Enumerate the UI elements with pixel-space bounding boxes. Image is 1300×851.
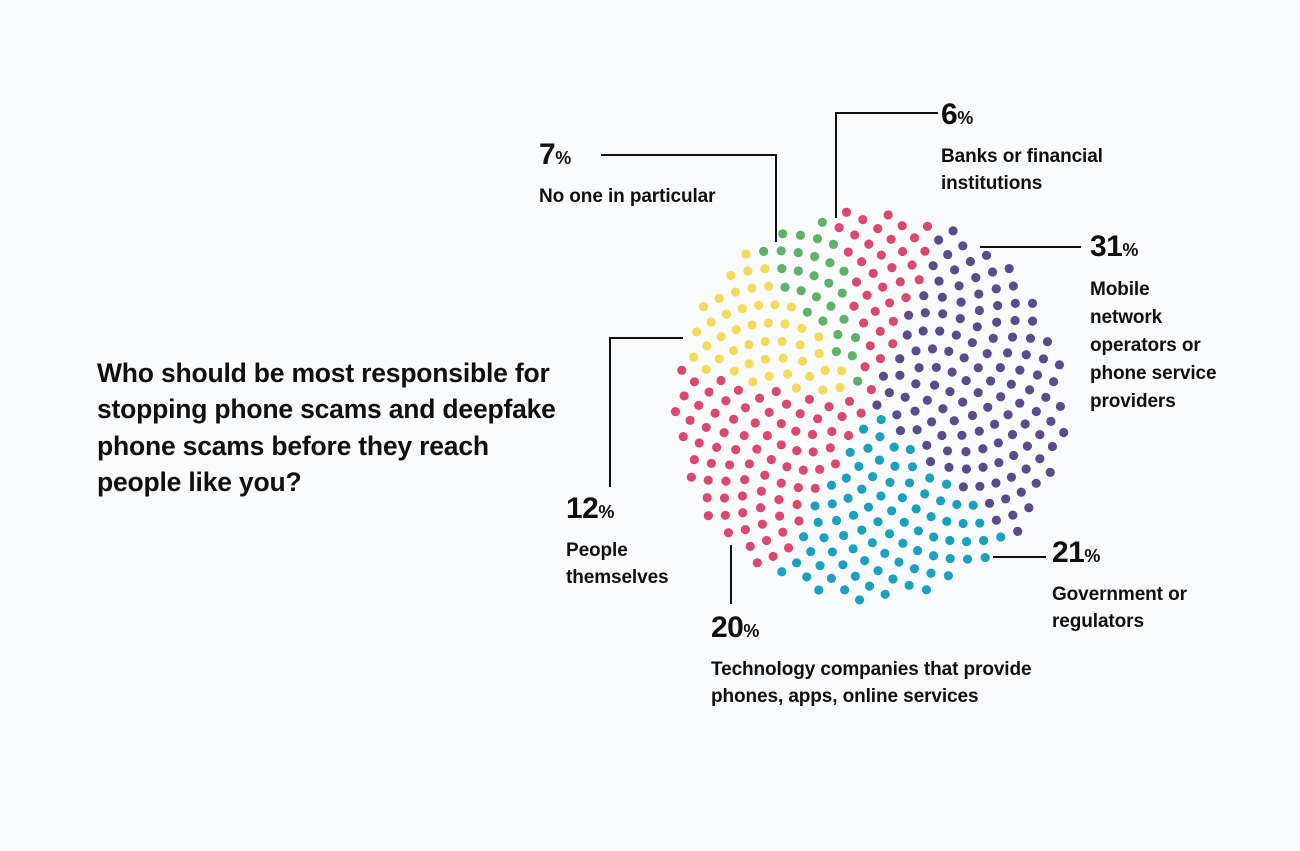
chart-dot-mobile [935,326,944,335]
callout-government: 21% Government or regulators [1052,538,1252,636]
chart-dot-noone [759,247,768,256]
chart-dot-people [798,357,807,366]
chart-dot-noone [777,246,786,255]
chart-dot-mobile [971,273,980,282]
chart-dot-people [743,266,752,275]
chart-dot-technology [826,443,835,452]
chart-dot-technology [767,455,776,464]
chart-dot-banks [898,221,907,230]
chart-dot-mobile [934,276,943,285]
callout-noone: 7% No one in particular [539,140,719,211]
chart-dot-people [764,282,773,291]
chart-dot-technology [711,409,720,418]
chart-dot-technology [741,525,750,534]
chart-dot-people [792,383,801,392]
chart-dot-noone [803,308,812,317]
chart-dot-mobile [944,347,953,356]
callout-banks-label: Banks or financial institutions [941,144,1191,198]
chart-dot-people [747,320,756,329]
callout-technology-percent-value: 20 [711,611,743,644]
chart-dot-government [792,558,801,567]
chart-dot-mobile [1059,428,1068,437]
chart-dot-government [885,478,894,487]
chart-dot-technology [734,386,743,395]
callout-technology-percent: 20% [711,613,1041,643]
callout-mobile-percent: 31% [1090,232,1220,262]
chart-dot-mobile [973,322,982,331]
chart-dot-mobile [932,363,941,372]
percent-sign: % [1084,546,1100,566]
chart-dot-technology [763,431,772,440]
chart-dot-technology [746,542,755,551]
chart-dot-noone [796,231,805,240]
chart-dot-mobile [962,376,971,385]
chart-dot-mobile [988,267,997,276]
chart-dot-mobile [1010,316,1019,325]
chart-dot-people [780,319,789,328]
chart-dot-government [905,581,914,590]
chart-dot-government [851,572,860,581]
chart-dot-people [745,359,754,368]
chart-dot-noone [853,377,862,386]
chart-dot-government [814,518,823,527]
chart-dot-mobile [928,344,937,353]
chart-dot-mobile [958,241,967,250]
chart-dot-government [843,494,852,503]
chart-dot-noone [826,302,835,311]
chart-dot-mobile [958,397,967,406]
chart-dot-mobile [1041,393,1050,402]
chart-dot-technology [729,415,738,424]
chart-dot-government [885,529,894,538]
chart-dot-mobile [927,417,936,426]
chart-dot-technology [772,387,781,396]
chart-dot-technology [702,423,711,432]
chart-dot-mobile [892,410,901,419]
callout-noone-percent: 7% [539,140,719,170]
chart-dot-mobile [1013,527,1022,536]
chart-dot-mobile [895,354,904,363]
chart-dot-government [799,532,808,541]
callout-noone-percent-value: 7 [539,138,555,171]
chart-dot-mobile [1035,430,1044,439]
chart-dot-mobile [1007,380,1016,389]
chart-dot-government [873,566,882,575]
chart-dot-technology [824,402,833,411]
percent-sign: % [1122,240,1138,260]
percent-sign: % [743,621,759,641]
chart-dot-people [689,353,698,362]
chart-dot-technology [752,445,761,454]
chart-dot-mobile [996,363,1005,372]
chart-dot-people [715,354,724,363]
chart-dot-banks [876,354,885,363]
chart-dot-technology [782,462,791,471]
chart-dot-mobile [992,516,1001,525]
chart-dot-mobile [1032,479,1041,488]
chart-dot-mobile [885,388,894,397]
chart-dot-banks_wrap [862,291,871,300]
chart-dot-mobile [1001,494,1010,503]
chart-dot-government [875,455,884,464]
chart-dot-technology [720,428,729,437]
callout-mobile: 31% Mobile network operators or phone se… [1090,232,1220,417]
chart-dot-people [726,271,735,280]
callout-noone-label: No one in particular [539,184,719,211]
chart-dot-mobile [968,338,977,347]
chart-dot-technology [777,419,786,428]
chart-dot-people [754,301,763,310]
chart-dot-government [908,462,917,471]
chart-dot-people [702,341,711,350]
chart-dot-technology [794,516,803,525]
chart-dot-technology [827,427,836,436]
chart-dot-mobile [983,403,992,412]
chart-dot-government [942,517,951,526]
chart-dot-banks [877,250,886,259]
chart-dot-government [839,531,848,540]
chart-dot-mobile [1005,264,1014,273]
chart-dot-technology [694,401,703,410]
chart-dot-technology [815,465,824,474]
chart-dot-technology [808,430,817,439]
chart-dot-mobile [945,387,954,396]
chart-dot-mobile [994,458,1003,467]
chart-dot-technology [671,407,680,416]
chart-dot-government [975,518,984,527]
chart-dot-technology [704,387,713,396]
chart-dot-mobile [1046,468,1055,477]
chart-dot-mobile [1022,464,1031,473]
chart-dot-banks_wrap [858,215,867,224]
chart-dot-mobile [1048,442,1057,451]
chart-dot-noone [780,283,789,292]
chart-dot-technology [690,377,699,386]
chart-dot-technology [784,543,793,552]
chart-dot-technology [740,475,749,484]
chart-dot-people [722,310,731,319]
chart-dot-mobile [930,381,939,390]
chart-dot-technology [792,500,801,509]
chart-dot-banks_wrap [844,247,853,256]
chart-dot-technology [731,445,740,454]
chart-dot-mobile [1055,360,1064,369]
chart-dot-technology [716,376,725,385]
chart-dot-government [815,561,824,570]
chart-dot-technology [844,431,853,440]
chart-dot-technology [707,459,716,468]
chart-dot-noone [825,258,834,267]
chart-dot-mobile [895,371,904,380]
chart-dot-mobile [938,404,947,413]
chart-dot-noone [839,267,848,276]
chart-dot-mobile [1008,430,1017,439]
chart-dot-technology [758,520,767,529]
chart-dot-mobile [978,463,987,472]
chart-dot-people [715,294,724,303]
chart-dot-technology [756,503,765,512]
chart-dot-banks [871,307,880,316]
chart-dot-technology [757,487,766,496]
chart-dot-mobile [1015,399,1024,408]
chart-dot-noone [794,266,803,275]
chart-dot-mobile [1026,334,1035,343]
chart-dot-government [979,536,988,545]
chart-dot-mobile [1028,317,1037,326]
chart-dot-people [744,340,753,349]
chart-dot-mobile [919,291,928,300]
chart-dot-mobile [1024,503,1033,512]
chart-dot-people [699,302,708,311]
chart-dot-banks_wrap [860,362,869,371]
chart-dot-mobile [956,298,965,307]
chart-dot-technology [695,438,704,447]
chart-dot-banks_wrap [850,230,859,239]
chart-dot-mobile [962,464,971,473]
chart-dot-government [864,502,873,511]
chart-dot-technology [753,558,762,567]
chart-dot-government [876,491,885,500]
chart-dot-government [873,517,882,526]
chart-dot-banks [867,385,876,394]
chart-dot-mobile [975,482,984,491]
chart-dot-people [805,372,814,381]
chart-dot-mobile [1022,350,1031,359]
chart-dot-government [969,501,978,510]
chart-dot-government [945,536,954,545]
chart-dot-people [692,327,701,336]
chart-dot-technology [777,479,786,488]
chart-dot-technology [745,459,754,468]
chart-dot-people [738,304,747,313]
chart-dot-technology [680,391,689,400]
chart-dot-mobile [959,482,968,491]
chart-dot-people [778,354,787,363]
callout-people: 12% People themselves [566,494,726,592]
percent-sign: % [598,502,614,522]
chart-dot-mobile [923,396,932,405]
callout-government-percent: 21% [1052,538,1252,568]
callout-government-percent-value: 21 [1052,536,1084,569]
chart-dot-government [842,474,851,483]
chart-dot-mobile [944,463,953,472]
chart-dot-banks_wrap [857,257,866,266]
chart-dot-banks [885,298,894,307]
chart-dot-mobile [1003,348,1012,357]
chart-dot-banks [923,222,932,231]
chart-dot-mobile [938,293,947,302]
chart-dot-people [765,372,774,381]
chart-dot-technology [740,431,749,440]
chart-dot-technology [685,416,694,425]
chart-dot-noone [777,264,786,273]
chart-dot-banks_wrap [852,277,861,286]
chart-dot-technology [738,491,747,500]
chart-dot-government [898,539,907,548]
leader-people [610,338,683,487]
chart-dot-people [837,366,846,375]
question-text: Who should be most responsible for stopp… [97,355,567,500]
chart-dot-people [702,365,711,374]
chart-dot-government [922,585,931,594]
chart-dot-people [761,355,770,364]
chart-dot-technology [677,366,686,375]
chart-dot-government [890,442,899,451]
chart-dot-technology [791,427,800,436]
chart-dot-banks_wrap [849,302,858,311]
chart-dot-noone [812,292,821,301]
chart-dot-mobile [1023,442,1032,451]
chart-dot-mobile [1049,377,1058,386]
chart-dot-mobile [921,308,930,317]
chart-dot-noone [824,278,833,287]
chart-dot-mobile [1021,419,1030,428]
chart-dot-people [729,346,738,355]
chart-dot-mobile [1043,337,1052,346]
chart-dot-government [936,496,945,505]
chart-dot-government [920,489,929,498]
chart-dot-noone [818,218,827,227]
chart-dot-technology [809,447,818,456]
chart-dot-mobile [948,367,957,376]
chart-dot-mobile [994,438,1003,447]
chart-dot-government [777,567,786,576]
chart-dot-technology [857,409,866,418]
chart-dot-mobile [914,363,923,372]
chart-dot-banks [896,277,905,286]
chart-dot-mobile [1032,407,1041,416]
chart-dot-people [787,302,796,311]
chart-dot-government [926,569,935,578]
chart-dot-noone [810,252,819,261]
chart-dot-government [827,481,836,490]
chart-dot-banks [869,269,878,278]
chart-dot-noone [794,248,803,257]
chart-dot-government [888,574,897,583]
chart-dot-mobile [896,426,905,435]
chart-dot-government [838,560,847,569]
chart-dot-people [818,385,827,394]
infographic-canvas: Who should be most responsible for stopp… [0,0,1300,851]
callout-government-label: Government or regulators [1052,582,1252,636]
chart-dot-government [929,551,938,560]
chart-dot-government [840,585,849,594]
chart-dot-mobile [926,457,935,466]
chart-dot-technology [845,397,854,406]
chart-dot-government [806,547,815,556]
chart-dot-mobile [950,265,959,274]
chart-dot-people [707,317,716,326]
chart-dot-mobile [1003,410,1012,419]
chart-dot-technology [813,414,822,423]
chart-dot-government [942,480,951,489]
chart-dot-banks [887,263,896,272]
chart-dot-banks [884,210,893,219]
chart-dot-mobile [911,346,920,355]
chart-dot-government [819,533,828,542]
chart-dot-people [741,249,750,258]
chart-dot-government [827,574,836,583]
chart-dot-government [913,546,922,555]
chart-dot-mobile [982,251,991,260]
chart-dot-technology [751,418,760,427]
chart-dot-noone [818,316,827,325]
chart-dot-people [770,300,779,309]
chart-dot-banks [873,224,882,233]
chart-dot-government [914,526,923,535]
chart-dot-technology [725,460,734,469]
chart-dot-noone [832,347,841,356]
chart-dot-noone [839,315,848,324]
chart-dot-government [887,506,896,515]
chart-dot-government [865,582,874,591]
chart-dot-government [855,595,864,604]
chart-dot-people [747,283,756,292]
chart-dot-mobile [919,326,928,335]
chart-dot-mobile [986,376,995,385]
callout-banks-percent: 6% [941,100,1191,130]
callout-people-percent: 12% [566,494,726,524]
chart-dot-government [963,555,972,564]
chart-dot-government [868,538,877,547]
callout-people-percent-value: 12 [566,492,598,525]
chart-dot-people [764,318,773,327]
callout-banks: 6% Banks or financial institutions [941,100,1191,198]
chart-dot-people [795,340,804,349]
chart-dot-people [783,369,792,378]
chart-dot-government [849,511,858,520]
chart-dot-mobile [989,334,998,343]
chart-dot-mobile [985,499,994,508]
chart-dot-technology [794,483,803,492]
chart-dot-technology [769,552,778,561]
chart-dot-government [912,504,921,513]
chart-dot-banks [889,317,898,326]
chart-dot-mobile [938,309,947,318]
chart-dot-people [732,325,741,334]
chart-dot-mobile [952,330,961,339]
chart-dot-government [828,499,837,508]
chart-dot-mobile [975,306,984,315]
chart-dot-noone [797,286,806,295]
chart-dot-government [926,512,935,521]
chart-dot-banks [888,339,897,348]
chart-dot-government [857,525,866,534]
chart-dot-mobile [990,420,999,429]
chart-dot-mobile [950,416,959,425]
chart-dot-government [860,556,869,565]
chart-dot-mobile [1028,299,1037,308]
chart-dot-mobile [1033,370,1042,379]
chart-dot-mobile [1015,366,1024,375]
chart-dot-mobile [922,441,931,450]
chart-dot-mobile [1007,473,1016,482]
chart-dot-government [906,445,915,454]
chart-dot-mobile [974,388,983,397]
chart-dot-government [868,472,877,481]
callout-technology-label: Technology companies that provide phones… [711,657,1041,711]
chart-dot-mobile [1011,299,1020,308]
chart-dot-mobile [983,349,992,358]
chart-dot-government [859,425,868,434]
chart-dot-people [814,332,823,341]
chart-dot-people [821,366,830,375]
chart-dot-mobile [974,363,983,372]
chart-dot-technology [811,484,820,493]
chart-dot-government [894,557,903,566]
chart-dot-technology [738,508,747,517]
chart-dot-mobile [1039,354,1048,363]
